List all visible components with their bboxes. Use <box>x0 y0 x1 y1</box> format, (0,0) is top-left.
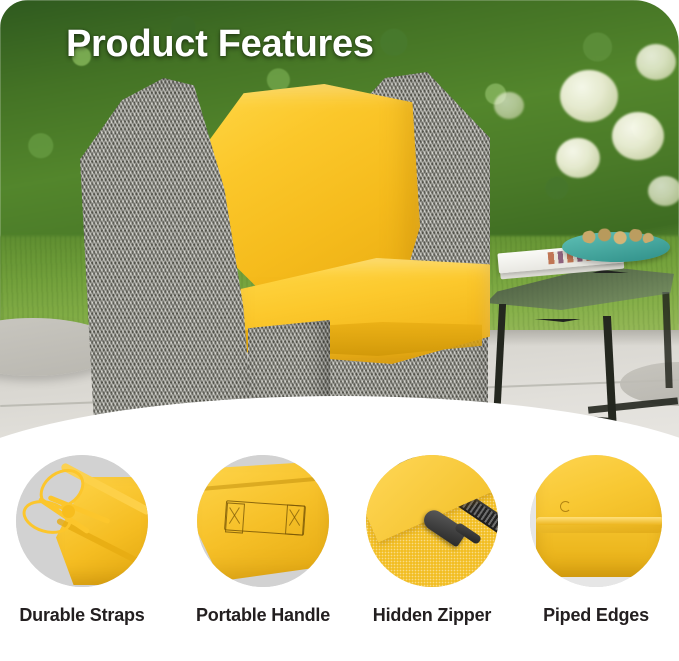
feature-thumbnail-handle <box>197 455 329 587</box>
table-leg <box>662 292 672 388</box>
hydrangea-bloom-icon <box>648 176 679 206</box>
feature-caption: Hidden Zipper <box>357 605 507 626</box>
strap-knot <box>62 505 75 518</box>
hydrangea-bloom-icon <box>636 44 676 80</box>
feature-item-portable-handle: Portable Handle <box>188 455 338 626</box>
feature-item-piped-edges: Piped Edges <box>521 455 671 626</box>
hero-image <box>0 0 679 470</box>
feature-item-hidden-zipper: Hidden Zipper <box>357 455 507 626</box>
page-title: Product Features <box>66 22 374 66</box>
hydrangea-bloom-icon <box>556 138 600 178</box>
feature-item-durable-straps: Durable Straps <box>7 455 157 626</box>
feature-thumbnail-zipper <box>366 455 498 587</box>
feature-caption: Durable Straps <box>7 605 157 626</box>
hydrangea-bloom-icon <box>612 112 664 160</box>
hydrangea-bloom-icon <box>560 70 618 122</box>
bowl-contents <box>578 228 656 246</box>
cushion-tag <box>560 501 571 512</box>
hero-scene <box>0 0 679 470</box>
hydrangea-bloom-icon <box>494 92 524 119</box>
table-leg <box>603 316 617 432</box>
table-base-rail <box>588 397 678 413</box>
piped-edge-icon <box>536 517 662 525</box>
product-features-infographic: Product Features Durable Straps <box>0 0 679 661</box>
feature-caption: Piped Edges <box>521 605 671 626</box>
feature-thumbnail-straps <box>16 455 148 587</box>
feature-caption: Portable Handle <box>188 605 338 626</box>
feature-thumbnail-piping <box>530 455 662 587</box>
